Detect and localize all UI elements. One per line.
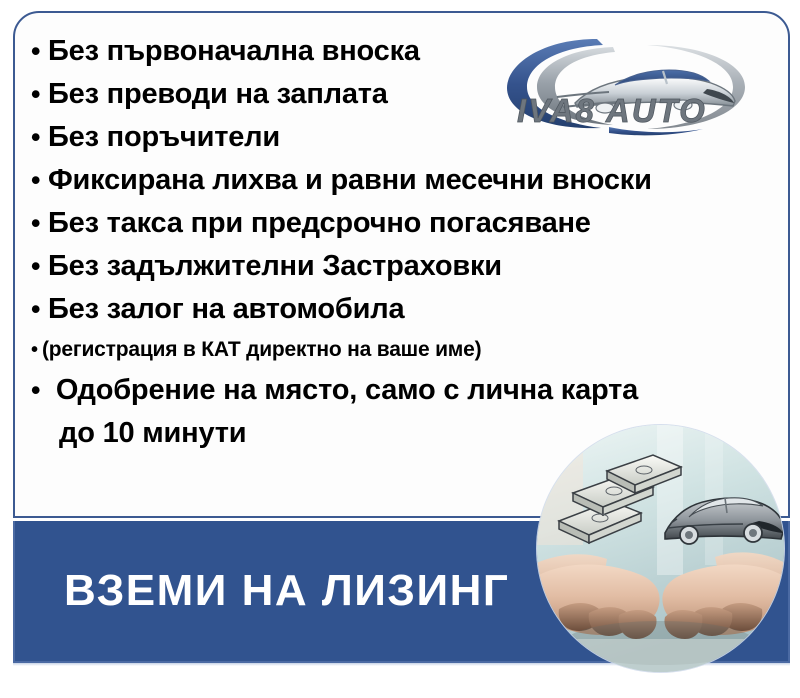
ivas-auto-logo: IVA8 AUTO — [497, 31, 755, 136]
bullet-dot-icon: • — [31, 73, 48, 116]
list-item: • Без задължителни Застраховки — [31, 245, 780, 288]
list-item-label: Без преводи на заплата — [48, 73, 388, 116]
list-item-note: • (регистрация в КАТ директно на ваше им… — [31, 331, 780, 369]
list-item: • Без такса при предсрочно погасяване — [31, 202, 780, 245]
leasing-flyer: • Без първоначална вноска • Без преводи … — [0, 0, 800, 698]
cta-headline: ВЗЕМИ НА ЛИЗИНГ — [64, 566, 509, 616]
list-item-label: Без залог на автомобила — [48, 288, 404, 331]
logo-wordmark: IVA8 AUTO — [517, 92, 707, 129]
list-item-note-label: (регистрация в КАТ директно на ваше име) — [42, 331, 481, 369]
list-item: • Без залог на автомобила — [31, 288, 780, 331]
list-item-label: Фиксирана лихва и равни месечни вноски — [48, 159, 652, 202]
list-item-label: Одобрение на място, само с лична карта — [56, 374, 638, 406]
bullet-dot-icon: • — [31, 331, 42, 369]
hands-money-car-photo — [537, 425, 784, 672]
list-item-label: Без поръчители — [48, 116, 280, 159]
list-item-label: Без такса при предсрочно погасяване — [48, 202, 591, 245]
bullet-dot-icon: • — [31, 202, 48, 245]
bullet-dot-icon: • — [31, 116, 48, 159]
bullet-dot-icon: • — [31, 369, 48, 412]
bullet-dot-icon: • — [31, 159, 48, 202]
list-item-label: Без задължителни Застраховки — [48, 245, 502, 288]
bullet-dot-icon: • — [31, 30, 48, 73]
bullet-dot-icon: • — [31, 288, 48, 331]
list-item: • Фиксирана лихва и равни месечни вноски — [31, 159, 780, 202]
list-item-label: Без първоначална вноска — [48, 30, 420, 73]
bullet-dot-icon: • — [31, 245, 48, 288]
